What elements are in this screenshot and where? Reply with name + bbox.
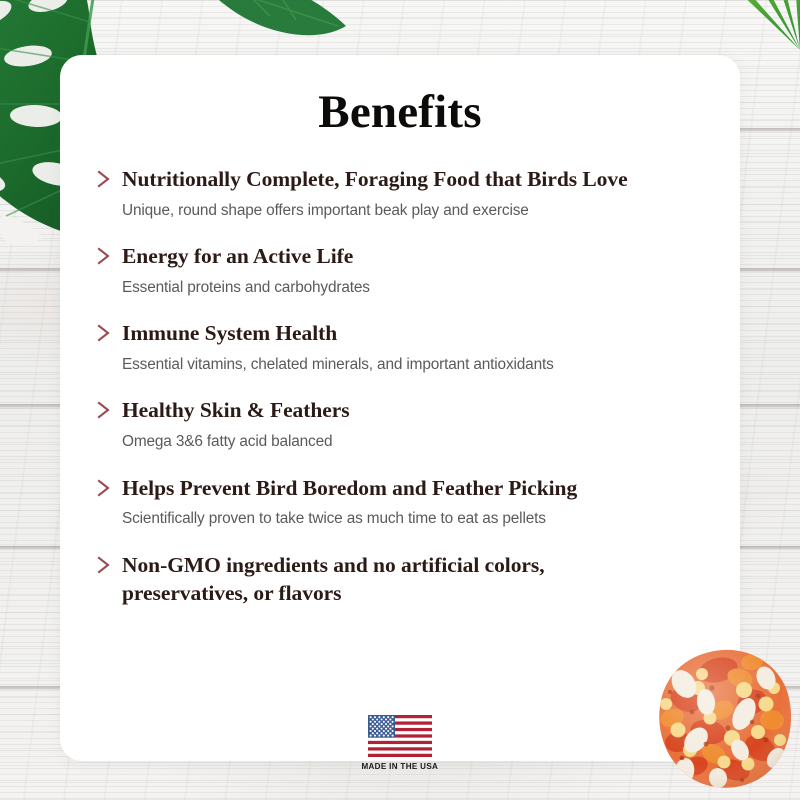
benefit-title: Immune System Health — [122, 321, 337, 345]
chevron-right-icon — [96, 319, 116, 345]
benefit-description: Essential proteins and carbohydrates — [122, 277, 706, 299]
benefit-item: Nutritionally Complete, Foraging Food th… — [96, 165, 706, 221]
benefit-description: Unique, round shape offers important bea… — [122, 200, 706, 222]
benefit-title: Healthy Skin & Feathers — [122, 398, 350, 422]
benefit-item: Helps Prevent Bird Boredom and Feather P… — [96, 474, 706, 530]
made-in-usa-badge: MADE IN THE USA — [60, 715, 740, 771]
promo-graphic: Benefits Nutritionally Complete, Foragin… — [0, 0, 800, 800]
benefit-description: Essential vitamins, chelated minerals, a… — [122, 354, 706, 376]
made-in-usa-caption: MADE IN THE USA — [362, 761, 439, 771]
benefits-card: Benefits Nutritionally Complete, Foragin… — [60, 55, 740, 761]
benefit-description: Omega 3&6 fatty acid balanced — [122, 431, 706, 453]
benefit-title: Energy for an Active Life — [122, 244, 353, 268]
chevron-right-icon — [96, 474, 116, 500]
benefit-item: Non-GMO ingredients and no artificial co… — [96, 551, 706, 608]
chevron-right-icon — [96, 242, 116, 268]
benefit-title: Helps Prevent Bird Boredom and Feather P… — [122, 476, 577, 500]
page-title: Benefits — [60, 85, 740, 139]
chevron-right-icon — [96, 551, 116, 577]
benefit-description: Scientifically proven to take twice as m… — [122, 508, 706, 530]
chevron-right-icon — [96, 396, 116, 422]
benefit-item: Energy for an Active Life Essential prot… — [96, 242, 706, 298]
chevron-right-icon — [96, 165, 116, 191]
benefits-list: Nutritionally Complete, Foraging Food th… — [60, 165, 740, 608]
benefit-item: Healthy Skin & Feathers Omega 3&6 fatty … — [96, 396, 706, 452]
benefit-title: Non-GMO ingredients and no artificial co… — [122, 551, 642, 608]
benefit-item: Immune System Health Essential vitamins,… — [96, 319, 706, 375]
benefit-title: Nutritionally Complete, Foraging Food th… — [122, 167, 628, 191]
usa-flag-icon — [368, 715, 432, 757]
